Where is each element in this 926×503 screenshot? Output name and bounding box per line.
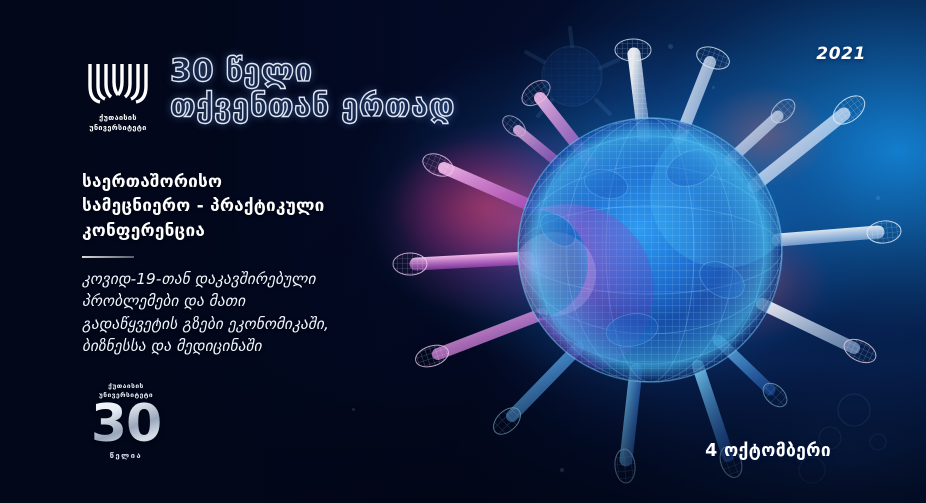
university-logo: ქუთაისის უნივერსიტეტი <box>82 56 154 132</box>
poster-year: 2021 <box>816 44 866 64</box>
headline: 30 წელი თქვენთან ერთად <box>170 54 455 123</box>
university-logo-caption: ქუთაისის უნივერსიტეტი <box>82 113 154 132</box>
headline-line-1: 30 წელი <box>170 54 455 89</box>
kutaisi-university-mark-icon <box>84 56 152 110</box>
headline-line-2: თქვენთან ერთად <box>170 89 455 124</box>
bokeh-particle <box>876 196 880 200</box>
poster-header: ქუთაისის უნივერსიტეტი 30 წელი თქვენთან ე… <box>82 56 455 132</box>
anniversary-emblem: ქუთაისის უნივერსიტეტი 30 წელია <box>72 382 180 460</box>
conference-poster: ქუთაისის უნივერსიტეტი 30 წელი თქვენთან ე… <box>0 0 926 503</box>
emblem-number: 30 <box>72 401 180 449</box>
bokeh-particle <box>668 44 673 49</box>
conference-subtitle: საერთაშორისო სამეცნიერო - პრაქტიკული კონ… <box>82 170 412 243</box>
poster-content: ქუთაისის უნივერსიტეტი 30 წელი თქვენთან ე… <box>0 0 420 503</box>
bokeh-particle <box>712 86 715 89</box>
bokeh-particle <box>560 468 564 472</box>
section-divider <box>82 256 134 258</box>
conference-topic: კოვიდ-19-თან დაკავშირებული პრობლემები და… <box>82 268 412 358</box>
poster-date: 4 ოქტომბერი <box>705 441 831 461</box>
